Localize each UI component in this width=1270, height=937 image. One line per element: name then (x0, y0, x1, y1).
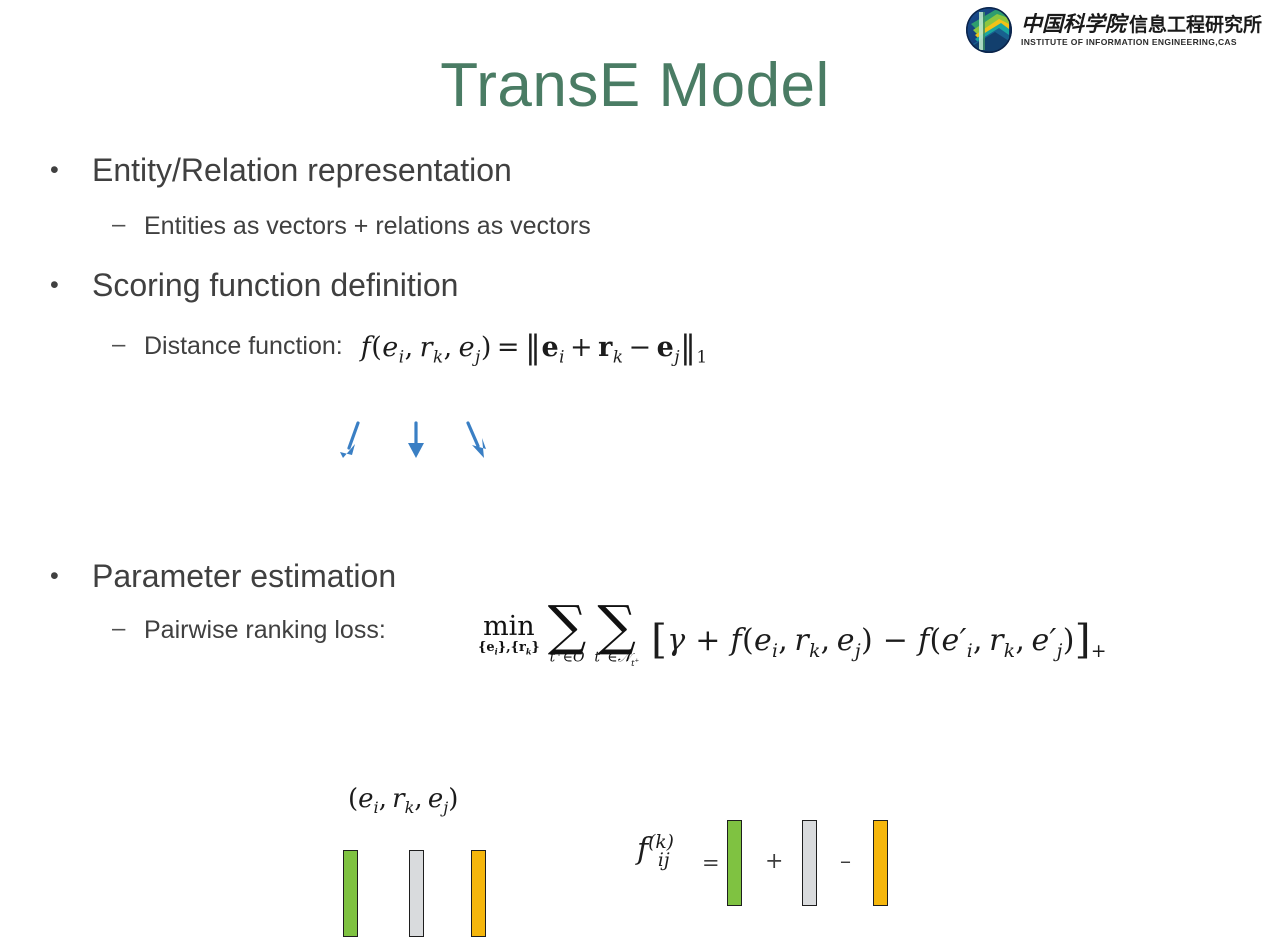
entity-tail-vector-bar (471, 850, 486, 937)
vector-equation-minus-sign: – (840, 849, 851, 874)
vector-equation-equals-sign: = (702, 851, 720, 875)
loss-sum-outer: ∑ t+∈O (548, 604, 587, 667)
formula-comma-2: , (444, 332, 453, 363)
formula-e-tail: e (459, 332, 475, 363)
logo-chinese-sub: 信息工程研究所 (1129, 16, 1262, 35)
fij-f: f (637, 832, 648, 867)
formula-norm-close: ‖ (680, 328, 696, 366)
formula-norm-subscript: 1 (696, 346, 707, 366)
loss-bracket-open: [ (651, 615, 667, 663)
formula-e-head: e (382, 332, 398, 363)
subbullet-distance-function: – Distance function: f(ei, rk, ej)=‖ei+r… (40, 326, 1230, 366)
bullet-entity-relation: • Entity/Relation representation (40, 152, 1230, 189)
loss-bracket-close: ] (1075, 615, 1091, 663)
equation-relation-vector-bar (802, 820, 817, 906)
bullet-marker-dot: • (40, 558, 92, 594)
logo-chinese-main: 中国科学院 (1021, 14, 1126, 35)
formula-bold-r: r (598, 332, 613, 363)
subbullet-pairwise-ranking-loss-label: Pairwise ranking loss: (144, 615, 386, 645)
loss-minus: − (883, 623, 908, 658)
equation-entity-head-vector-bar (727, 820, 742, 906)
relation-vector-bar (409, 850, 424, 937)
page-title: TransE Model (0, 50, 1270, 121)
loss-sum-inner-glyph: ∑ (597, 604, 636, 648)
loss-plus: + (695, 623, 720, 658)
institute-logo: 中国科学院 信息工程研究所 INSTITUTE OF INFORMATION E… (965, 6, 1262, 54)
logo-text-block: 中国科学院 信息工程研究所 INSTITUTE OF INFORMATION E… (1021, 14, 1262, 47)
loss-min-label: min (483, 614, 535, 640)
formula-open-paren: ( (371, 332, 382, 363)
subbullet-marker-dash: – (40, 331, 144, 360)
bullet-marker-dot: • (40, 267, 92, 303)
pairwise-ranking-loss-formula: min {ei},{rk} ∑ t+∈O ∑ t−∈𝒩t+ [γ + f(ei,… (478, 604, 1107, 669)
bullet-parameter-estimation-label: Parameter estimation (92, 558, 396, 595)
subbullet-distance-function-label: Distance function: (144, 331, 343, 361)
subbullet-entities-as-vectors: – Entities as vectors + relations as vec… (40, 211, 1230, 241)
formula-f: f (361, 332, 372, 363)
formula-norm-open: ‖ (525, 328, 541, 366)
loss-sum-inner: ∑ t−∈𝒩t+ (594, 604, 639, 669)
bullet-scoring-function: • Scoring function definition (40, 267, 1230, 304)
loss-bracket-subscript: + (1091, 641, 1107, 662)
loss-min-subscript: {ei},{rk} (478, 640, 540, 657)
formula-r: r (420, 332, 433, 363)
entity-head-vector-bar (343, 850, 358, 937)
bullet-parameter-estimation: • Parameter estimation (40, 558, 1230, 595)
loss-sum-inner-subscript: t−∈𝒩t+ (594, 649, 639, 669)
logo-chinese-line: 中国科学院 信息工程研究所 (1021, 14, 1262, 35)
loss-sum-outer-glyph: ∑ (548, 604, 587, 648)
formula-close-paren: ) (481, 332, 492, 363)
vector-equation-fij-label: f(k)ij (637, 832, 670, 871)
transe-vector-diagram: (ei, rk, ej) f(k)ij = + – (0, 388, 1270, 563)
subbullet-marker-dash: – (40, 615, 144, 644)
loss-f-positive: f(ei, rk, ej) (731, 623, 873, 658)
vector-equation-plus-sign: + (765, 849, 783, 874)
loss-sum-outer-subscript: t+∈O (550, 649, 585, 666)
bullet-entity-relation-label: Entity/Relation representation (92, 152, 512, 189)
formula-bold-e-head: e (541, 332, 559, 363)
bullet-scoring-function-label: Scoring function definition (92, 267, 458, 304)
subbullet-marker-dash: – (40, 211, 144, 240)
distance-function-formula: f(ei, rk, ej)=‖ei+rk−ej‖1 (361, 326, 708, 366)
formula-minus: − (624, 332, 657, 363)
formula-equals: = (492, 332, 525, 363)
loss-min-operator: min {ei},{rk} (478, 614, 540, 656)
slide-canvas: 中国科学院 信息工程研究所 INSTITUTE OF INFORMATION E… (0, 0, 1270, 713)
formula-bold-sub-k: k (613, 346, 624, 366)
logo-english-line: INSTITUTE OF INFORMATION ENGINEERING,CAS (1021, 38, 1262, 47)
diagram-arrows (0, 388, 1270, 563)
formula-plus: + (565, 332, 598, 363)
bullet-marker-dot: • (40, 152, 92, 188)
formula-bold-e-tail: e (657, 332, 675, 363)
triple-notation-label: (ei, rk, ej) (348, 784, 458, 817)
formula-sub-k: k (433, 346, 444, 366)
loss-gamma: γ (667, 623, 685, 658)
subbullet-entities-as-vectors-label: Entities as vectors + relations as vecto… (144, 211, 591, 241)
fij-subscript-ij: ij (658, 850, 670, 871)
equation-entity-tail-vector-bar (873, 820, 888, 906)
logo-emblem-icon (965, 6, 1013, 54)
formula-comma-1: , (405, 332, 414, 363)
loss-f-negative: f(e′i, rk, e′j) (918, 623, 1075, 658)
loss-bracket-expression: [γ + f(ei, rk, ej) − f(e′i, rk, e′j)]+ (651, 612, 1107, 662)
